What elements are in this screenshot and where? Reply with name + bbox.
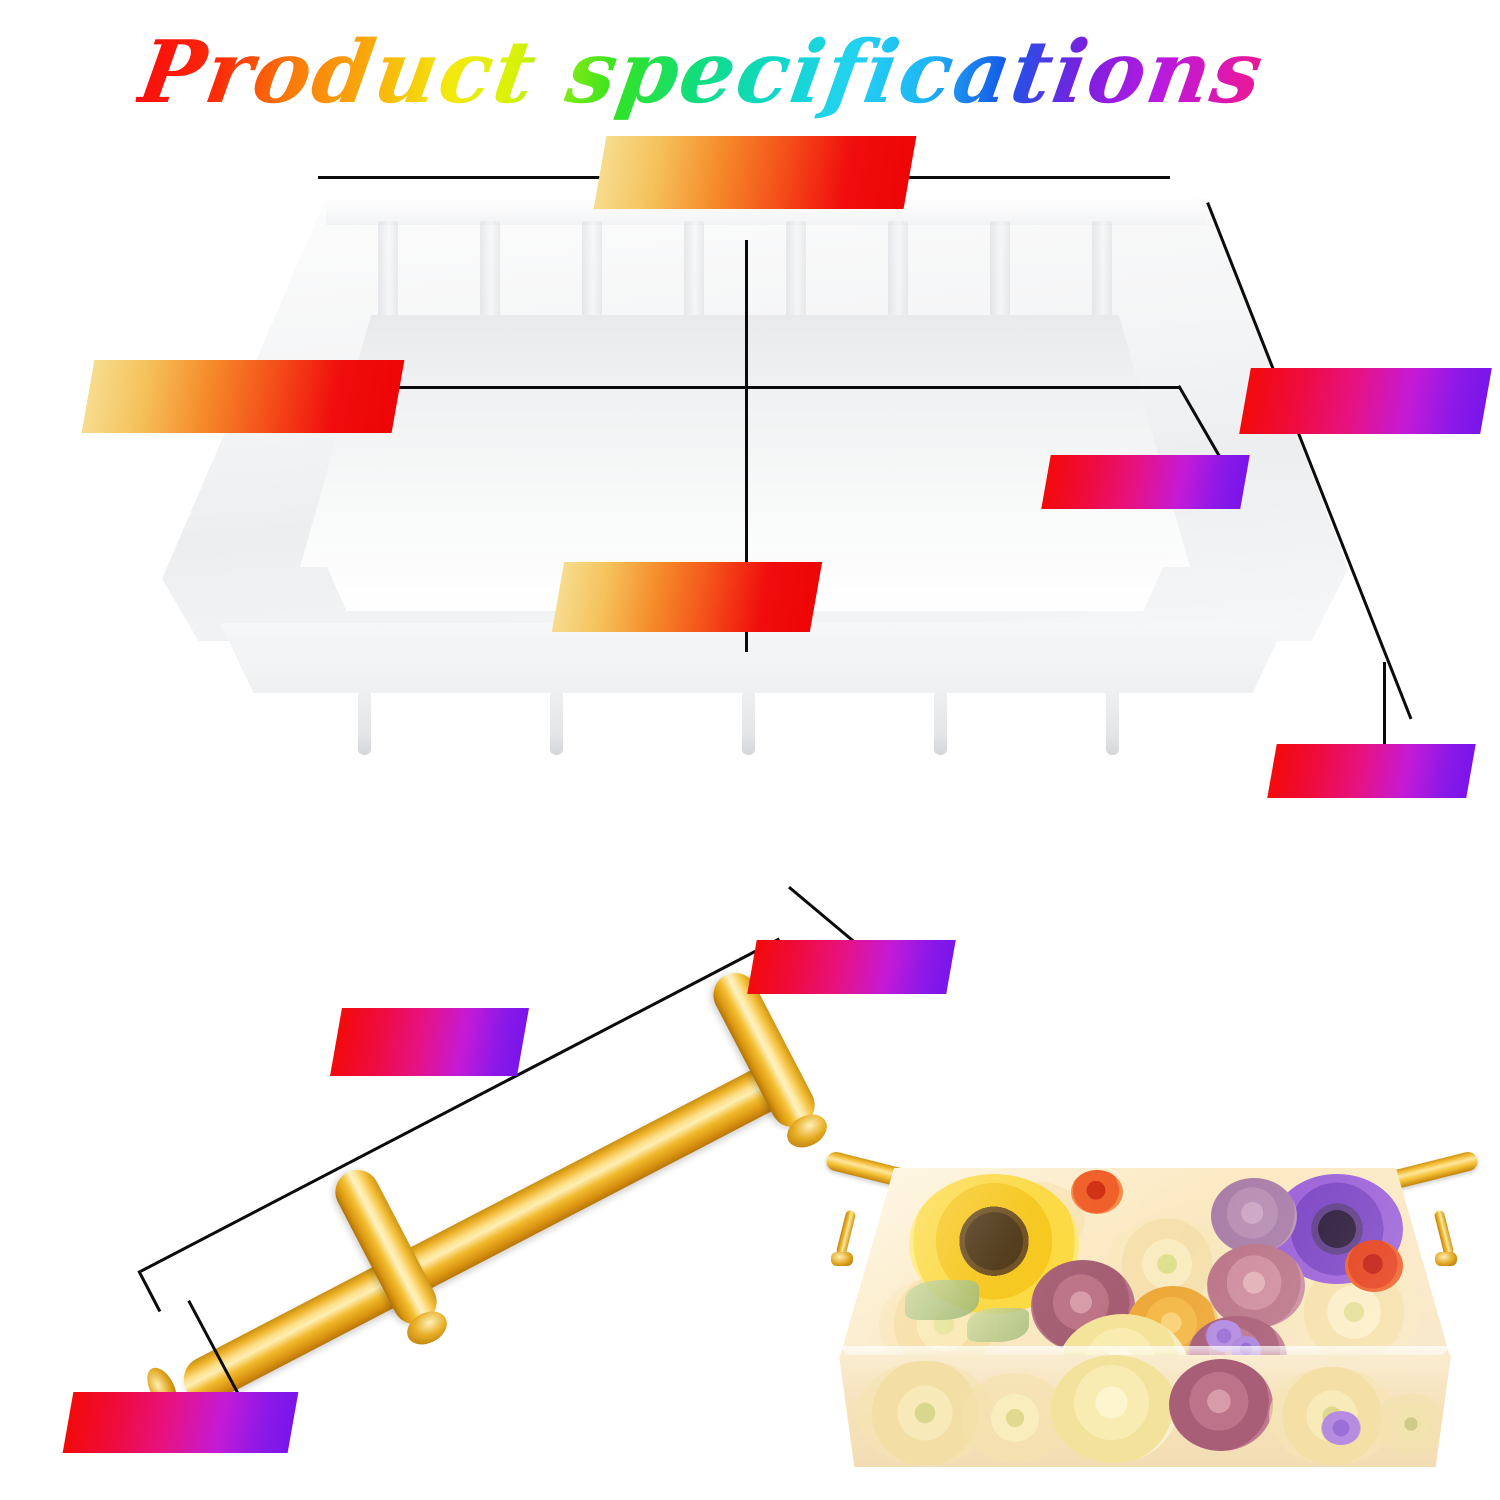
tray-handle-post-right-near — [1434, 1209, 1455, 1256]
mold-fin — [1106, 685, 1119, 755]
dimension-label-wall-height: 1.8inch — [1041, 455, 1250, 509]
flower-sprig-violet-side — [1321, 1411, 1361, 1445]
dimension-label-depth-outer: 9.5inch — [1239, 368, 1492, 434]
dimension-label-handle-post: 1.4inch — [63, 1392, 298, 1453]
tray-handle-foot-left — [831, 1252, 853, 1266]
finished-resin-tray-photo — [815, 1140, 1475, 1470]
dimension-label-width-inner: 7.9inch — [552, 562, 822, 632]
dimension-line-length-inner — [308, 386, 1180, 389]
dimension-label-handle-bore: 0.5inch — [747, 940, 956, 994]
dimension-label-length-inner: 11.8inch — [82, 360, 405, 433]
mold-fin — [358, 685, 371, 755]
mold-skirt — [198, 623, 1308, 693]
flower-daisy-side — [1375, 1393, 1447, 1455]
mold-fin — [550, 685, 563, 755]
dimension-label-length-outer: 13.5inch — [594, 136, 917, 209]
flower-poppy-small — [1071, 1170, 1123, 1214]
tray-handle-foot-right — [1435, 1252, 1457, 1266]
flower-rose-cream-side — [1051, 1355, 1177, 1463]
flower-rose-mauve — [1211, 1178, 1297, 1254]
tray-front-side — [839, 1355, 1451, 1467]
flower-rose-pink — [1207, 1244, 1305, 1328]
dimension-label-mold-height: 1.9inch — [1267, 744, 1476, 798]
flower-rose-pink-side — [1169, 1359, 1273, 1451]
leaf — [905, 1280, 979, 1320]
handle-main-bar — [176, 1056, 800, 1411]
mold-fin — [742, 685, 755, 755]
tray-handle-post-left-near — [836, 1209, 857, 1256]
leaf — [967, 1308, 1029, 1342]
tray-top-surface — [839, 1168, 1451, 1360]
dimension-label-handle-length: 6inch — [330, 1008, 529, 1076]
page-title: Product specifications — [131, 18, 1438, 128]
mold-fin — [934, 685, 947, 755]
flower-poppy-red — [1345, 1240, 1403, 1292]
